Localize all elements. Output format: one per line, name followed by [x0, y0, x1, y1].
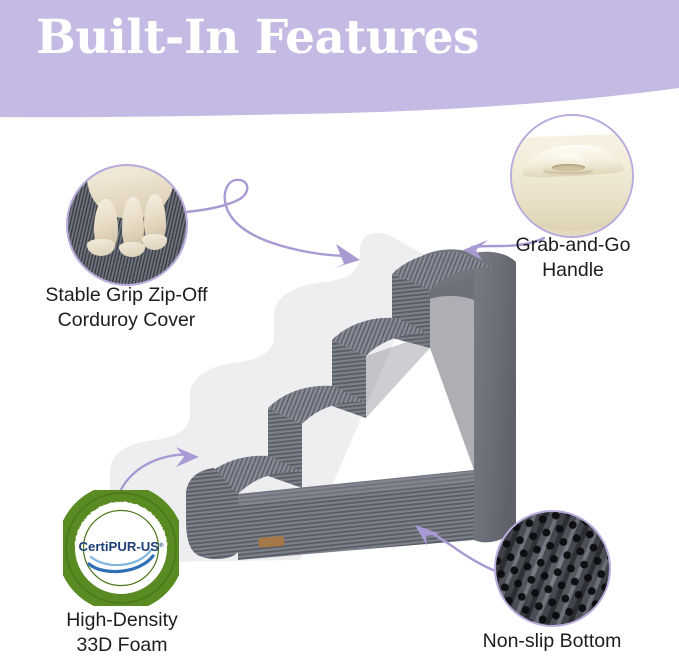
stairs-step-4-tread [392, 252, 494, 290]
stairs-step-2-riser [268, 408, 302, 488]
stairs-step-1-tread [204, 456, 302, 494]
certipur-us-badge: CONTAINS CERTIFIED FLEXIBLE POLYURETHANE… [63, 490, 179, 606]
infographic-page: Built-In Features [0, 0, 679, 658]
arrowhead-cover [334, 244, 360, 268]
feature-label-grab-and-go-handle: Grab-and-Go Handle [487, 233, 659, 283]
stairs-step-3-riser [332, 340, 366, 418]
foam-carry-handle-photo [512, 116, 632, 236]
stairs-inner-shade-2 [366, 334, 430, 418]
stairs-step-4-riser [392, 274, 430, 348]
badge-center-text: CertiPUR-US® [78, 539, 164, 554]
stairs-base-front [186, 468, 238, 559]
arrow-to-nonslip-path [424, 529, 498, 572]
stairs-step-2-tread [268, 386, 366, 424]
stairs-step-3-tread [332, 318, 430, 356]
stairs-side-panel [474, 252, 516, 543]
dog-paws-on-corduroy-photo [68, 166, 186, 284]
stairs-base-highlight [238, 470, 474, 506]
stairs-inner-shade [430, 276, 474, 470]
dotted-grip-fabric-photo [496, 512, 609, 625]
feature-circle-non-slip-bottom [494, 510, 611, 627]
stairs-base-body [238, 470, 474, 560]
arrowhead-handle [463, 240, 488, 260]
feature-label-non-slip-bottom: Non-slip Bottom [452, 629, 652, 654]
feature-label-high-density-foam: High-Density 33D Foam [29, 608, 215, 658]
feature-circle-corduroy-cover [66, 164, 188, 286]
stairs-top-right-edge [404, 249, 474, 312]
brand-tag [258, 536, 285, 548]
page-title: Built-In Features [36, 12, 479, 64]
arrowhead-nonslip [415, 525, 440, 546]
arrow-to-cover-path [186, 180, 352, 256]
arrow-to-foam-path [120, 455, 190, 492]
feature-label-corduroy-cover: Stable Grip Zip-Off Corduroy Cover [8, 283, 245, 333]
feature-circle-grab-and-go-handle [510, 114, 634, 238]
stairs-step-1-riser [204, 478, 238, 552]
arrowhead-foam [176, 447, 199, 467]
